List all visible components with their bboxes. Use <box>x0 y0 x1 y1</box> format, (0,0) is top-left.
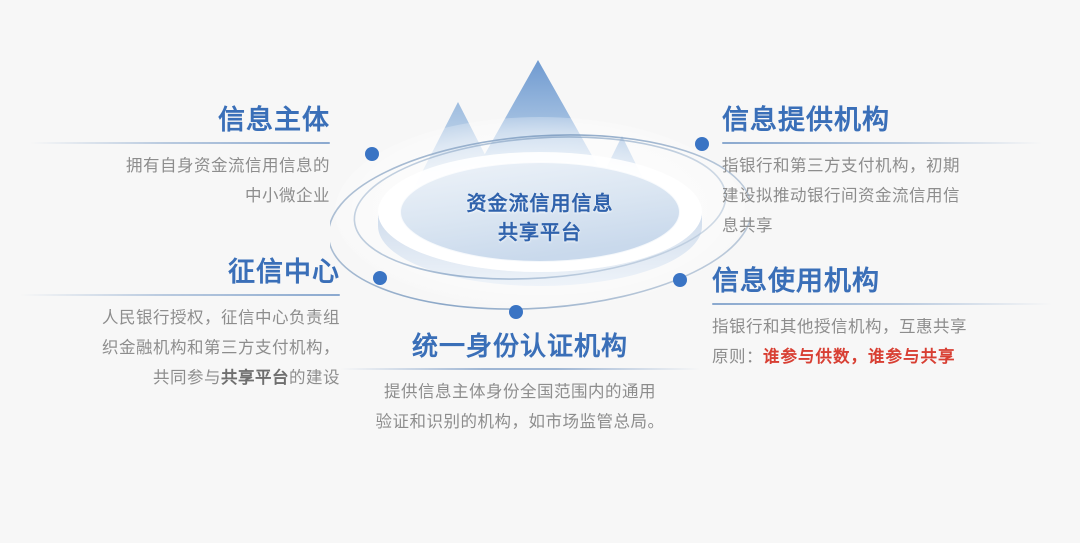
section-heading-identity-authority: 统一身份认证机构 <box>340 330 700 363</box>
orbit-dot-upper-left <box>365 147 379 161</box>
platform-title-line-1: 资金流信用信息 <box>330 190 750 219</box>
body-text: 共同参与 <box>153 368 221 387</box>
body-text: 的建设 <box>289 368 340 387</box>
section-body-information-subject: 拥有自身资金流信用信息的 中小微企业 <box>30 151 330 211</box>
section-information-user: 信息使用机构 指银行和其他授信机构，互惠共享 原则：谁参与供数，谁参与共享 <box>712 265 1052 372</box>
section-body-information-user: 指银行和其他授信机构，互惠共享 原则：谁参与供数，谁参与共享 <box>712 312 1052 372</box>
body-line: 人民银行授权，征信中心负责组 <box>20 303 340 333</box>
heading-underline <box>340 368 700 370</box>
heading-underline <box>20 294 340 296</box>
section-heading-information-user: 信息使用机构 <box>712 265 1052 298</box>
body-line: 指银行和第三方支付机构，初期 <box>722 151 1042 181</box>
body-line: 共同参与共享平台的建设 <box>20 363 340 393</box>
body-line: 织金融机构和第三方支付机构， <box>20 333 340 363</box>
body-line: 验证和识别的机构，如市场监管总局。 <box>340 407 700 437</box>
section-identity-authority: 统一身份认证机构 提供信息主体身份全国范围内的通用 验证和识别的机构，如市场监管… <box>340 330 700 437</box>
section-heading-information-subject: 信息主体 <box>30 104 330 137</box>
section-information-subject: 信息主体 拥有自身资金流信用信息的 中小微企业 <box>30 104 330 211</box>
section-heading-information-provider: 信息提供机构 <box>722 104 1042 137</box>
body-text: 原则： <box>712 347 763 366</box>
body-line: 中小微企业 <box>30 181 330 211</box>
orbit-dot-bottom <box>509 305 523 319</box>
orbit-dot-lower-right <box>673 273 687 287</box>
body-line: 息共享 <box>722 211 1042 241</box>
section-heading-credit-reference-center: 征信中心 <box>20 256 340 289</box>
section-body-credit-reference-center: 人民银行授权，征信中心负责组 织金融机构和第三方支付机构， 共同参与共享平台的建… <box>20 303 340 393</box>
section-credit-reference-center: 征信中心 人民银行授权，征信中心负责组 织金融机构和第三方支付机构， 共同参与共… <box>20 256 340 393</box>
heading-underline <box>722 142 1042 144</box>
body-line: 原则：谁参与供数，谁参与共享 <box>712 342 1052 372</box>
heading-underline <box>712 303 1052 305</box>
platform-title-line-2: 共享平台 <box>330 219 750 248</box>
section-body-identity-authority: 提供信息主体身份全国范围内的通用 验证和识别的机构，如市场监管总局。 <box>340 377 700 437</box>
body-line: 拥有自身资金流信用信息的 <box>30 151 330 181</box>
body-line: 提供信息主体身份全国范围内的通用 <box>340 377 700 407</box>
orbit-dot-upper-right <box>695 137 709 151</box>
body-emphasis: 共享平台 <box>221 368 289 387</box>
section-information-provider: 信息提供机构 指银行和第三方支付机构，初期 建设拟推动银行间资金流信用信 息共享 <box>722 104 1042 241</box>
body-emphasis-red: 谁参与供数，谁参与共享 <box>763 347 956 366</box>
section-body-information-provider: 指银行和第三方支付机构，初期 建设拟推动银行间资金流信用信 息共享 <box>722 151 1042 241</box>
body-line: 指银行和其他授信机构，互惠共享 <box>712 312 1052 342</box>
body-line: 建设拟推动银行间资金流信用信 <box>722 181 1042 211</box>
heading-underline <box>30 142 330 144</box>
orbit-dot-lower-left <box>373 271 387 285</box>
platform-title: 资金流信用信息 共享平台 <box>330 190 750 248</box>
infographic-canvas: 资金流信用信息 共享平台 信息主体 拥有自身资金流信用信息的 中小微企业 征信中… <box>0 0 1080 543</box>
